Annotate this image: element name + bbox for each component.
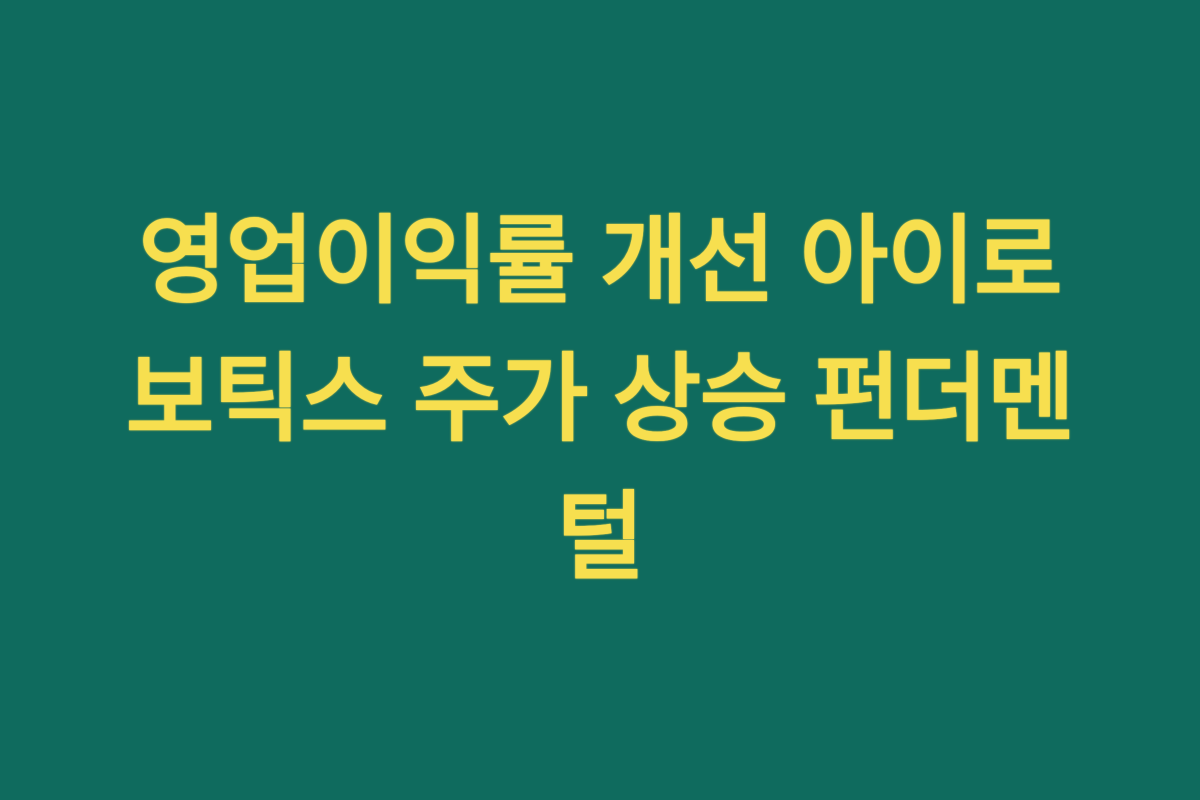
headline-line-3: 털	[126, 469, 1074, 607]
headline-line-2: 보틱스 주가 상승 펀더멘	[126, 331, 1074, 469]
thumbnail-canvas: 영업이익률 개선 아이로 보틱스 주가 상승 펀더멘 털	[0, 0, 1200, 800]
page-title: 영업이익률 개선 아이로 보틱스 주가 상승 펀더멘 털	[126, 193, 1074, 608]
headline-block: 영업이익률 개선 아이로 보틱스 주가 상승 펀더멘 털	[56, 193, 1144, 608]
headline-line-1: 영업이익률 개선 아이로	[126, 193, 1074, 331]
